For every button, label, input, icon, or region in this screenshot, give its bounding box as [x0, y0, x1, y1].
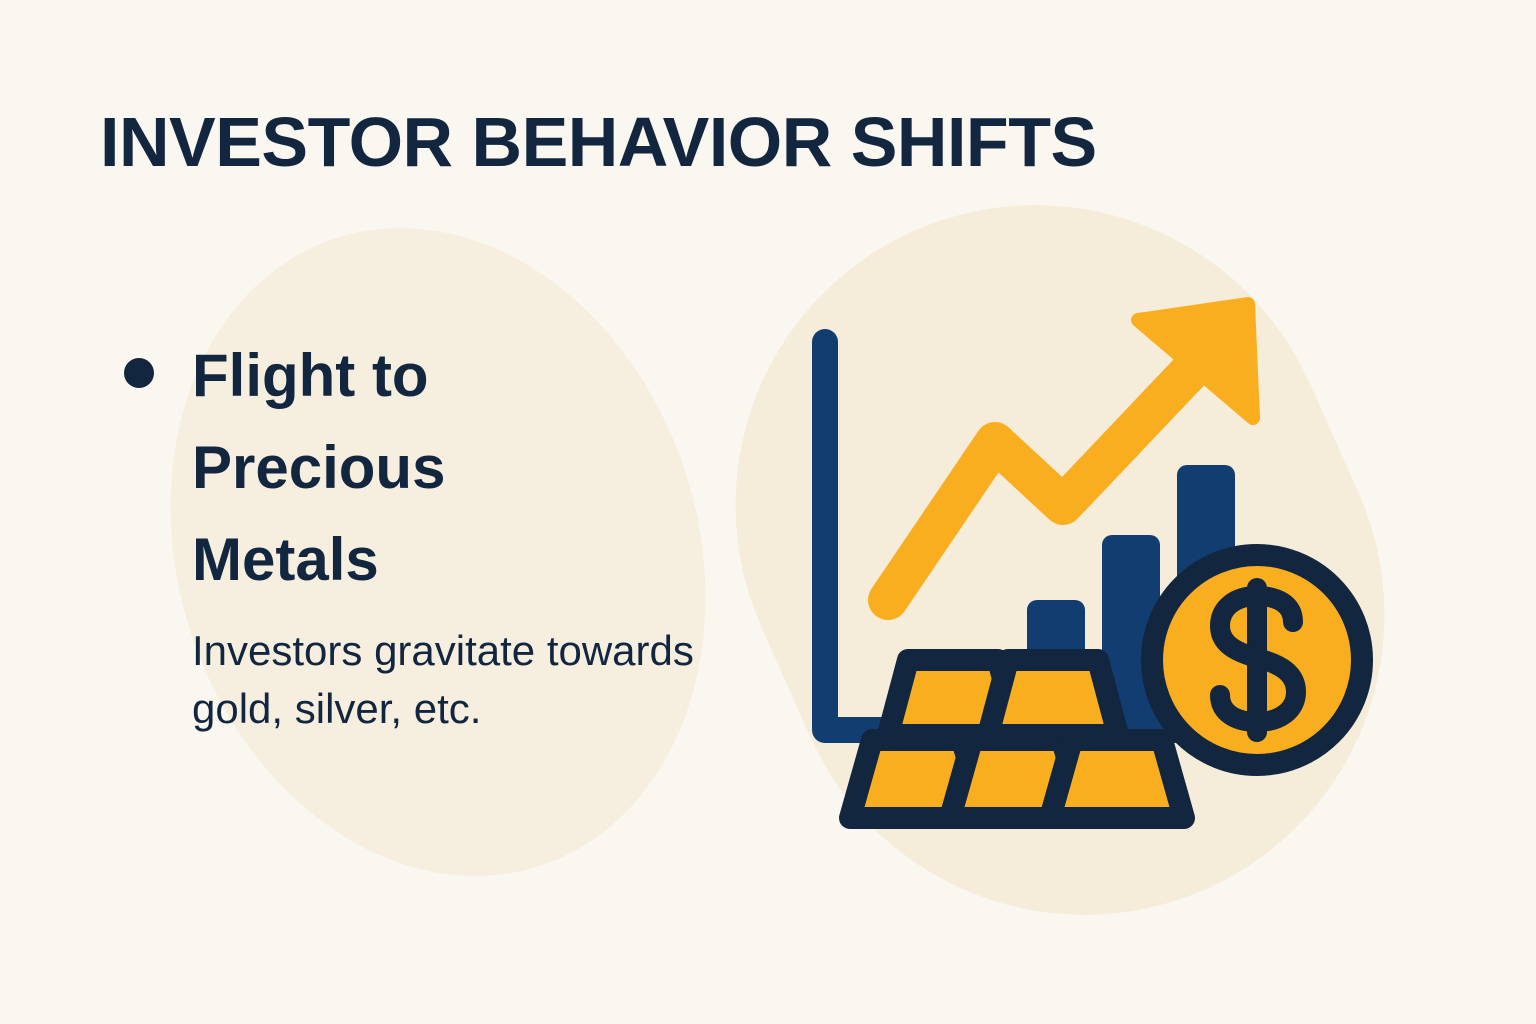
page-title: INVESTOR BEHAVIOR SHIFTS: [100, 104, 1097, 180]
dollar-coin-icon: [1152, 555, 1362, 765]
bullet-heading: Flight to Precious Metals: [192, 330, 542, 606]
bullet-block: Flight to Precious Metals Investors grav…: [124, 330, 744, 738]
bullet-dot-icon: [124, 358, 154, 388]
bullet-body-text: Investors gravitate towards gold, silver…: [192, 622, 702, 738]
bullet-row: Flight to Precious Metals: [124, 330, 744, 606]
precious-metals-growth-illustration: [780, 270, 1400, 840]
slide-canvas: INVESTOR BEHAVIOR SHIFTS Flight to Preci…: [0, 0, 1536, 1024]
